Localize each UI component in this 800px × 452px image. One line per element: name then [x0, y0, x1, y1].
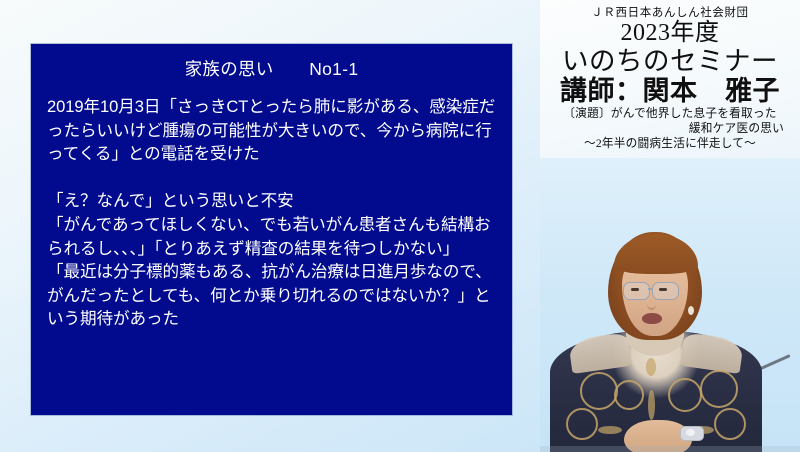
- blouse-pattern-4: [700, 370, 738, 408]
- slide-body: 2019年10月3日「さっきCTとったら肺に影がある、感染症だったらいいけど腫瘍…: [47, 95, 499, 331]
- speaker-eye-right: [659, 288, 667, 291]
- blouse-pattern-6: [714, 408, 746, 440]
- desk-edge: [540, 446, 800, 452]
- screen: 家族の思い No1-1 2019年10月3日「さっきCTとったら肺に影がある、感…: [0, 0, 800, 452]
- talk-subject-line-3: ～2年半の闘病生活に伴走して～: [540, 136, 800, 151]
- wristwatch-face: [686, 429, 695, 436]
- slide-paragraph-4: 「最近は分子標的薬もある、抗がん治療は日進月歩なので、がんだったとしても、何とか…: [47, 260, 499, 331]
- slide-paragraph-3: 「がんであってほしくない、でも若いがん患者さんも結構おられるし、、、」「とりあえ…: [47, 213, 499, 260]
- speaker-nose: [647, 298, 656, 310]
- slide-paragraph-2: 「え？なんで」という思いと不安: [47, 189, 499, 213]
- speaker-mouth: [642, 313, 662, 324]
- presentation-slide: 家族の思い No1-1 2019年10月3日「さっきCTとったら肺に影がある、感…: [31, 44, 512, 415]
- speaker-name: 講師：関本 雅子: [540, 76, 800, 106]
- talk-subject-line-2: 緩和ケア医の思い: [540, 121, 800, 136]
- seminar-title-block: ＪＲ西日本あんしん社会財団 2023年度 いのちのセミナー 講師：関本 雅子 〔…: [540, 0, 800, 151]
- organization-name: ＪＲ西日本あんしん社会財団: [540, 0, 800, 20]
- seminar-year: 2023年度: [540, 20, 800, 47]
- blouse-pattern-1: [580, 372, 618, 410]
- right-region: ＪＲ西日本あんしん社会財団 2023年度 いのちのセミナー 講師：関本 雅子 〔…: [540, 0, 800, 452]
- blouse-pattern-8: [648, 390, 655, 420]
- talk-subject-line-1: 〔演題〕がんで他界した息子を看取った: [540, 106, 800, 121]
- speaker-fringe: [614, 234, 698, 274]
- slide-paragraph-1: 2019年10月3日「さっきCTとったら肺に影がある、感染症だったらいいけど腫瘍…: [47, 95, 499, 166]
- blouse-pattern-3: [668, 378, 702, 412]
- slide-region: 家族の思い No1-1 2019年10月3日「さっきCTとったら肺に影がある、感…: [0, 0, 540, 452]
- blouse-pattern-9: [598, 426, 622, 434]
- blouse-pattern-2: [614, 380, 644, 410]
- speaker-video-feed: [540, 158, 800, 452]
- earring: [688, 306, 694, 315]
- eyeglasses-lens-right: [652, 282, 679, 300]
- slide-title: 家族の思い No1-1: [31, 56, 512, 81]
- speaker-eye-left: [631, 288, 639, 291]
- eyeglasses-bridge: [648, 288, 653, 290]
- blouse-pattern-7: [646, 358, 656, 376]
- seminar-name: いのちのセミナー: [540, 47, 800, 76]
- blouse-pattern-5: [566, 408, 598, 440]
- eyeglasses-icon: [623, 282, 650, 300]
